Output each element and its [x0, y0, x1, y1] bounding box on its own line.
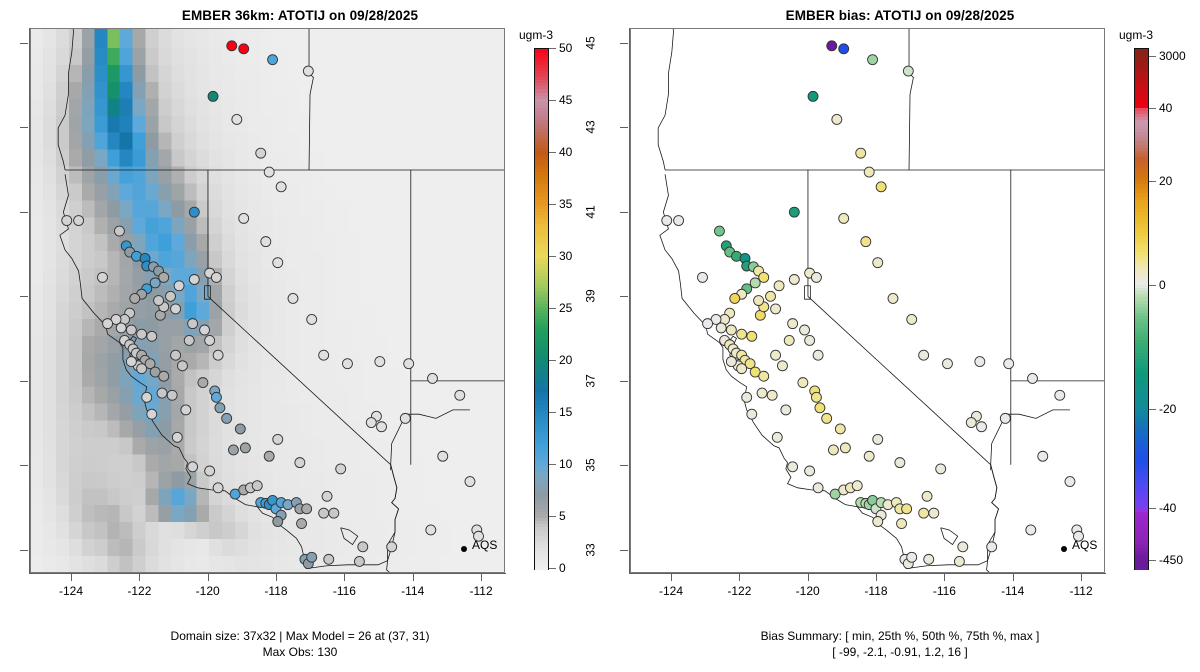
colorbar-tick-label: 3000: [1159, 49, 1186, 63]
panel-model-bias: EMBER bias: ATOTIJ on 09/28/2025 AQS -12…: [600, 0, 1200, 672]
colorbar-tick-label: 40: [1159, 101, 1172, 115]
colorbar-tick-label: 35: [559, 197, 572, 211]
colorbar-tick-label: 15: [559, 405, 572, 419]
colorbar-tick-label: 30: [559, 249, 572, 263]
colorbar-tick-label: 40: [559, 145, 572, 159]
footer-bias-summary-header: Bias Summary: [ min, 25th %, 50th %, 75t…: [600, 629, 1200, 644]
panel-model-concentration: EMBER 36km: ATOTIJ on 09/28/2025 AQS -12…: [0, 0, 600, 672]
colorbar-tick-label: 0: [559, 561, 566, 575]
colorbar-unit-label: ugm-3: [1106, 28, 1166, 42]
colorbar-tick-label: -20: [1159, 402, 1176, 416]
colorbar-tick-label: 20: [1159, 174, 1172, 188]
colorbar-tick-label: 20: [559, 353, 572, 367]
colorbar-tick-label: 50: [559, 41, 572, 55]
colorbar-concentration: ugm-305101520253035404550: [0, 0, 600, 672]
footer-domain-size: Domain size: 37x32 | Max Model = 26 at (…: [0, 629, 600, 644]
colorbar-tick-label: 10: [559, 457, 572, 471]
colorbar-unit-label: ugm-3: [506, 28, 566, 42]
colorbar-tick-label: 5: [559, 509, 566, 523]
colorbar-tick-label: -40: [1159, 501, 1176, 515]
footer-bias-summary-values: [ -99, -2.1, -0.91, 1.2, 16 ]: [600, 645, 1200, 660]
footer-max-obs: Max Obs: 130: [0, 645, 600, 660]
colorbar-tick-label: 0: [1159, 278, 1166, 292]
colorbar-tick-label: 45: [559, 93, 572, 107]
colorbar-tick-label: -450: [1159, 553, 1183, 567]
colorbar-bias: ugm-3-450-40-20020403000: [600, 0, 1200, 672]
colorbar-tick-label: 25: [559, 301, 572, 315]
figure-canvas: EMBER 36km: ATOTIJ on 09/28/2025 AQS -12…: [0, 0, 1200, 672]
